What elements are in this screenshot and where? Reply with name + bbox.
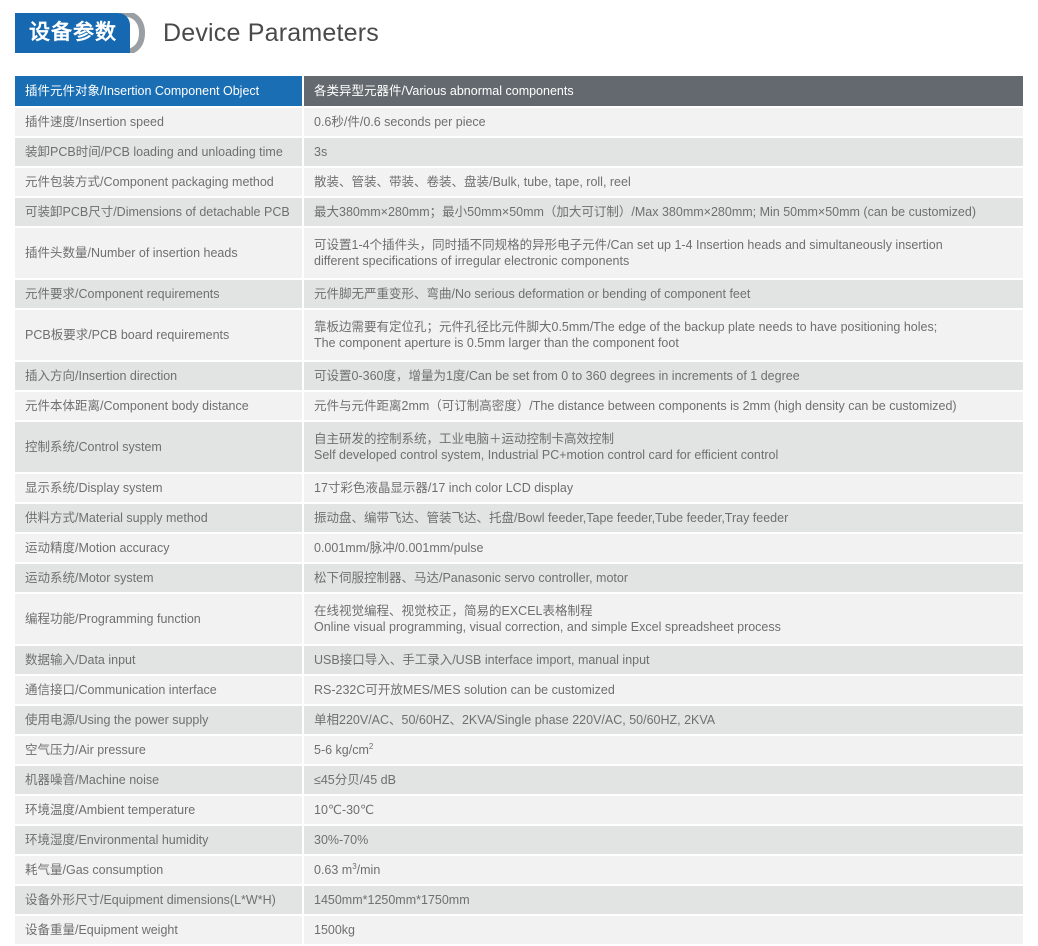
row-value: 元件脚无严重变形、弯曲/No serious deformation or be… [304,280,1023,308]
row-label: 控制系统/Control system [15,422,302,472]
row-label: 装卸PCB时间/PCB loading and unloading time [15,138,302,166]
row-value-line1: 可设置0-360度，增量为1度/Can be set from 0 to 360… [314,369,800,383]
table-row: 通信接口/Communication interfaceRS-232C可开放ME… [15,676,1023,704]
row-value-line1: 散装、管装、带装、卷装、盘装/Bulk, tube, tape, roll, r… [314,175,631,189]
row-value: 5-6 kg/cm2 [304,736,1023,764]
row-value: 元件与元件距离2mm（可订制高密度）/The distance between … [304,392,1023,420]
row-value-line1: 松下伺服控制器、马达/Panasonic servo controller, m… [314,571,628,585]
row-value: 0.6秒/件/0.6 seconds per piece [304,108,1023,136]
row-value: 30%-70% [304,826,1023,854]
row-value: 单相220V/AC、50/60HZ、2KVA/Single phase 220V… [304,706,1023,734]
row-value-line1: ≤45分贝/45 dB [314,773,396,787]
row-value-line1: 0.001mm/脉冲/0.001mm/pulse [314,541,484,555]
row-label: 设备外形尺寸/Equipment dimensions(L*W*H) [15,886,302,914]
row-label: 插件头数量/Number of insertion heads [15,228,302,278]
table-row: 设备重量/Equipment weight1500kg [15,916,1023,944]
row-value: 靠板边需要有定位孔；元件孔径比元件脚大0.5mm/The edge of the… [304,310,1023,360]
table-row: 使用电源/Using the power supply单相220V/AC、50/… [15,706,1023,734]
row-value: ≤45分贝/45 dB [304,766,1023,794]
row-value-line2: Online visual programming, visual correc… [314,619,781,635]
row-label: 环境温度/Ambient temperature [15,796,302,824]
row-value: 3s [304,138,1023,166]
row-value-line1: 元件与元件距离2mm（可订制高密度）/The distance between … [314,399,957,413]
row-value-line1: 17寸彩色液晶显示器/17 inch color LCD display [314,481,573,495]
table-row: 显示系统/Display system17寸彩色液晶显示器/17 inch co… [15,474,1023,502]
row-value-line1: 1450mm*1250mm*1750mm [314,893,470,907]
table-row: 元件要求/Component requirements元件脚无严重变形、弯曲/N… [15,280,1023,308]
row-value-line1: 30%-70% [314,833,368,847]
table-row: PCB板要求/PCB board requirements靠板边需要有定位孔；元… [15,310,1023,360]
table-body: 插件速度/Insertion speed0.6秒/件/0.6 seconds p… [15,108,1023,944]
table-row: 插件头数量/Number of insertion heads可设置1-4个插件… [15,228,1023,278]
row-label: 运动系统/Motor system [15,564,302,592]
badge-label: 设备参数 [15,13,130,53]
row-label: 元件包装方式/Component packaging method [15,168,302,196]
row-value-line1: 在线视觉编程、视觉校正，简易的EXCEL表格制程 [314,604,593,618]
row-value-line2: different specifications of irregular el… [314,253,943,269]
row-value-line1: 单相220V/AC、50/60HZ、2KVA/Single phase 220V… [314,713,715,727]
table-row: 元件本体距离/Component body distance元件与元件距离2mm… [15,392,1023,420]
row-value: 自主研发的控制系统，工业电脑＋运动控制卡高效控制Self developed c… [304,422,1023,472]
row-value-line1: 1500kg [314,923,355,937]
row-label: 环境湿度/Environmental humidity [15,826,302,854]
row-value: 振动盘、编带飞达、管装飞达、托盘/Bowl feeder,Tape feeder… [304,504,1023,532]
table-row: 运动精度/Motion accuracy0.001mm/脉冲/0.001mm/p… [15,534,1023,562]
superscript: 2 [369,742,373,751]
row-value: RS-232C可开放MES/MES solution can be custom… [304,676,1023,704]
row-label: 插入方向/Insertion direction [15,362,302,390]
superscript: 3 [352,862,356,871]
table-row: 环境温度/Ambient temperature10℃-30℃ [15,796,1023,824]
table-row: 编程功能/Programming function在线视觉编程、视觉校正，简易的… [15,594,1023,644]
row-label: 编程功能/Programming function [15,594,302,644]
row-label: 数据输入/Data input [15,646,302,674]
row-value-line1: 振动盘、编带飞达、管装飞达、托盘/Bowl feeder,Tape feeder… [314,511,788,525]
row-value-line1: 自主研发的控制系统，工业电脑＋运动控制卡高效控制 [314,432,614,446]
table-row: 可装卸PCB尺寸/Dimensions of detachable PCB最大3… [15,198,1023,226]
row-value: 1500kg [304,916,1023,944]
table-row: 控制系统/Control system自主研发的控制系统，工业电脑＋运动控制卡高… [15,422,1023,472]
table-row: 环境湿度/Environmental humidity30%-70% [15,826,1023,854]
table-row: 供料方式/Material supply method振动盘、编带飞达、管装飞达… [15,504,1023,532]
row-value-line1: 3s [314,145,327,159]
page-header: 设备参数 Device Parameters [0,0,1038,62]
table-row: 元件包装方式/Component packaging method散装、管装、带… [15,168,1023,196]
row-label: PCB板要求/PCB board requirements [15,310,302,360]
row-value-line2: Self developed control system, Industria… [314,447,778,463]
row-label: 可装卸PCB尺寸/Dimensions of detachable PCB [15,198,302,226]
row-label: 元件要求/Component requirements [15,280,302,308]
row-label: 运动精度/Motion accuracy [15,534,302,562]
table-row: 运动系统/Motor system松下伺服控制器、马达/Panasonic se… [15,564,1023,592]
row-value-line1: 元件脚无严重变形、弯曲/No serious deformation or be… [314,287,750,301]
table-header-label: 插件元件对象/Insertion Component Object [15,76,302,106]
row-value-line1: 靠板边需要有定位孔；元件孔径比元件脚大0.5mm/The edge of the… [314,320,937,334]
row-value: 可设置1-4个插件头，同时插不同规格的异形电子元件/Can set up 1-4… [304,228,1023,278]
row-value-line1: 最大380mm×280mm；最小50mm×50mm（加大可订制）/Max 380… [314,205,976,219]
row-value: 散装、管装、带装、卷装、盘装/Bulk, tube, tape, roll, r… [304,168,1023,196]
row-value: 在线视觉编程、视觉校正，简易的EXCEL表格制程Online visual pr… [304,594,1023,644]
page-title: Device Parameters [163,13,379,53]
row-value-line1: 10℃-30℃ [314,803,374,817]
row-value: 0.001mm/脉冲/0.001mm/pulse [304,534,1023,562]
row-label: 元件本体距离/Component body distance [15,392,302,420]
row-label: 机器噪音/Machine noise [15,766,302,794]
device-parameters-table: 插件元件对象/Insertion Component Object 各类异型元器… [15,76,1023,946]
table-header-value: 各类异型元器件/Various abnormal components [304,76,1023,106]
row-value-line1: 0.6秒/件/0.6 seconds per piece [314,115,486,129]
row-label: 空气压力/Air pressure [15,736,302,764]
row-label: 供料方式/Material supply method [15,504,302,532]
row-value: 0.63 m3/min [304,856,1023,884]
section-badge: 设备参数 [15,13,130,53]
table-row: 设备外形尺寸/Equipment dimensions(L*W*H)1450mm… [15,886,1023,914]
row-value: 松下伺服控制器、马达/Panasonic servo controller, m… [304,564,1023,592]
row-value: 17寸彩色液晶显示器/17 inch color LCD display [304,474,1023,502]
row-value: 可设置0-360度，增量为1度/Can be set from 0 to 360… [304,362,1023,390]
row-value-line1: RS-232C可开放MES/MES solution can be custom… [314,683,615,697]
row-value: 最大380mm×280mm；最小50mm×50mm（加大可订制）/Max 380… [304,198,1023,226]
row-value-line1: 可设置1-4个插件头，同时插不同规格的异形电子元件/Can set up 1-4… [314,238,943,252]
row-label: 显示系统/Display system [15,474,302,502]
table-row: 空气压力/Air pressure5-6 kg/cm2 [15,736,1023,764]
row-label: 插件速度/Insertion speed [15,108,302,136]
row-value-line2: The component aperture is 0.5mm larger t… [314,335,937,351]
table-row: 装卸PCB时间/PCB loading and unloading time3s [15,138,1023,166]
table-row: 机器噪音/Machine noise≤45分贝/45 dB [15,766,1023,794]
table-row: 插入方向/Insertion direction可设置0-360度，增量为1度/… [15,362,1023,390]
table-header-row: 插件元件对象/Insertion Component Object 各类异型元器… [15,76,1023,106]
row-value: 10℃-30℃ [304,796,1023,824]
row-label: 设备重量/Equipment weight [15,916,302,944]
row-value-line1: 0.63 m3/min [314,863,380,877]
row-label: 通信接口/Communication interface [15,676,302,704]
row-value: USB接口导入、手工录入/USB interface import, manua… [304,646,1023,674]
table-row: 耗气量/Gas consumption0.63 m3/min [15,856,1023,884]
table-row: 数据输入/Data inputUSB接口导入、手工录入/USB interfac… [15,646,1023,674]
row-value-line1: USB接口导入、手工录入/USB interface import, manua… [314,653,650,667]
row-label: 使用电源/Using the power supply [15,706,302,734]
table-row: 插件速度/Insertion speed0.6秒/件/0.6 seconds p… [15,108,1023,136]
row-value: 1450mm*1250mm*1750mm [304,886,1023,914]
row-label: 耗气量/Gas consumption [15,856,302,884]
row-value-line1: 5-6 kg/cm2 [314,743,373,757]
